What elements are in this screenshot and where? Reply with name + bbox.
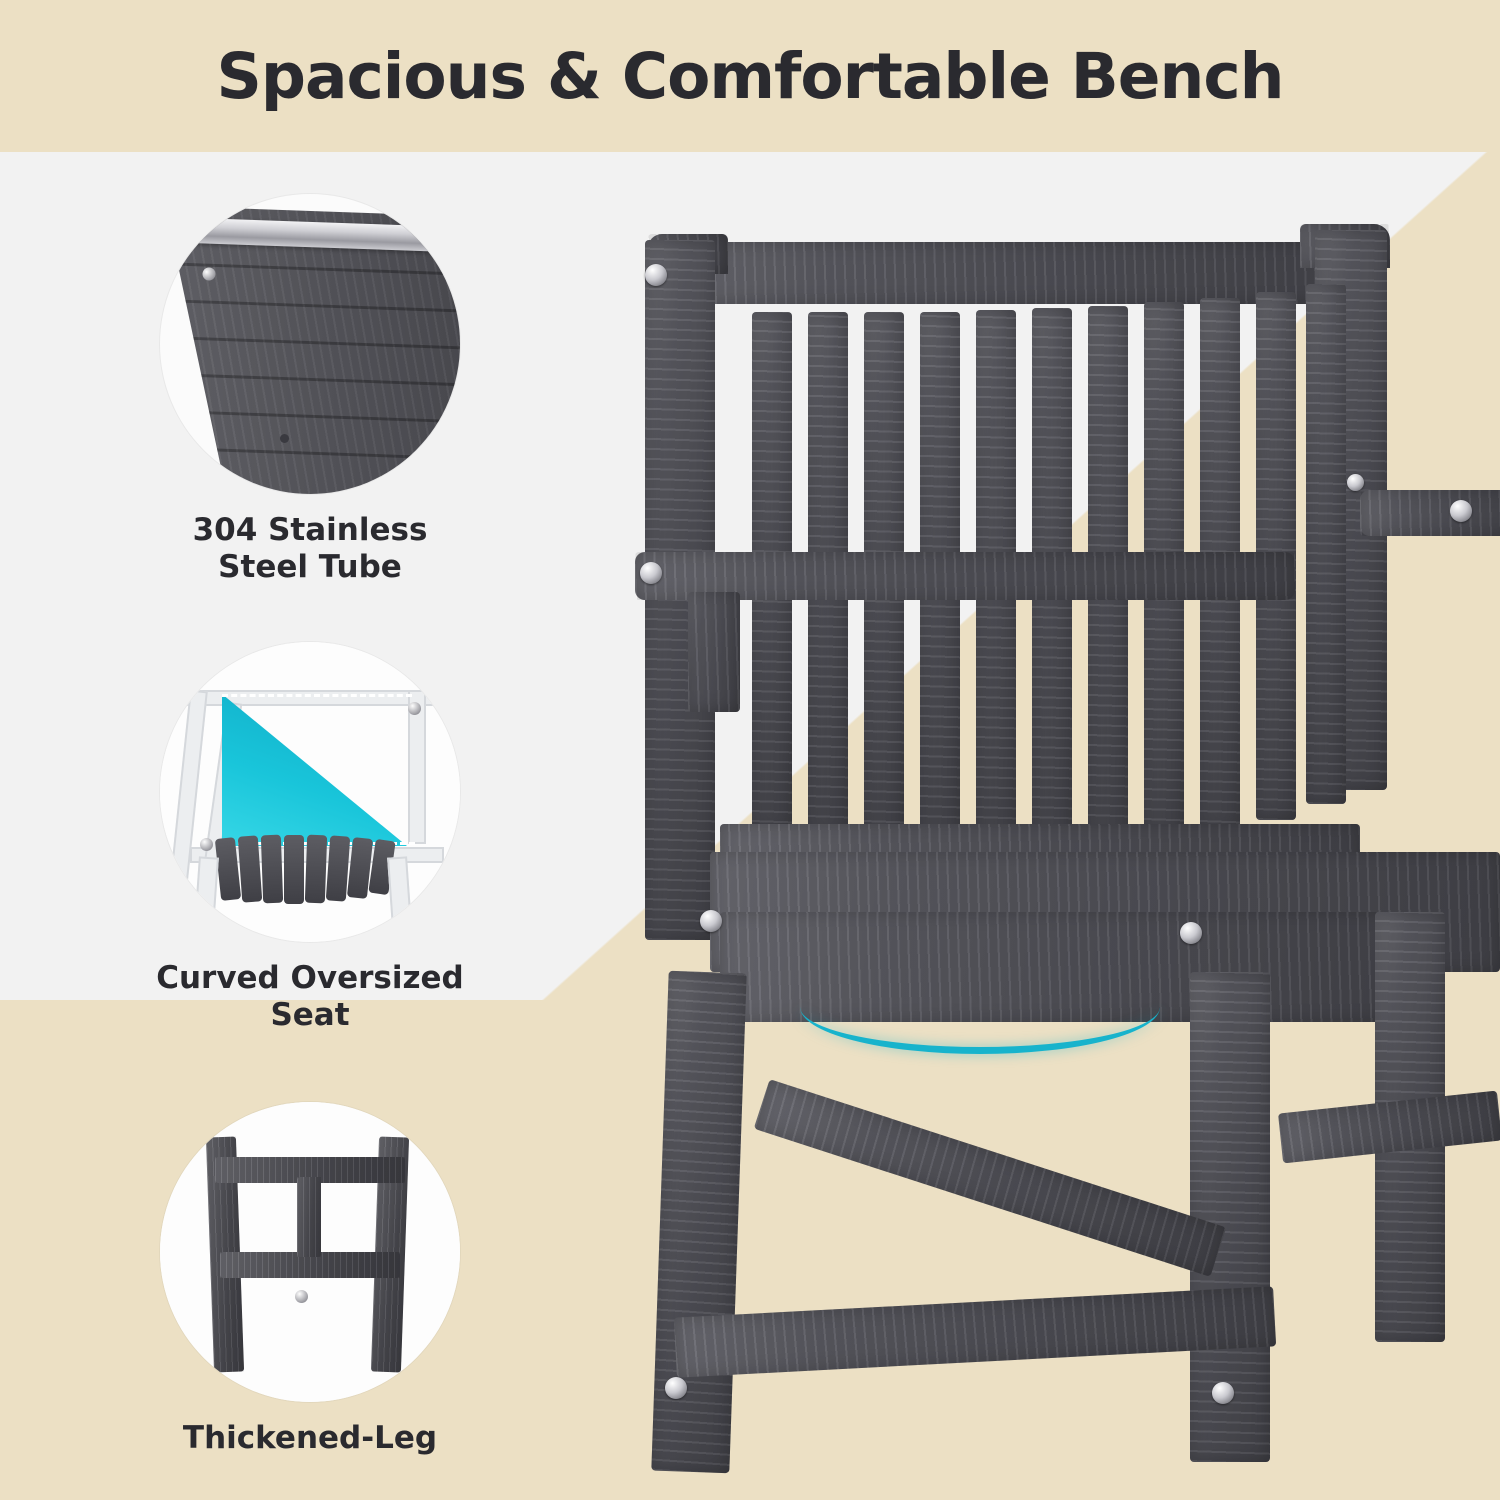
header-banner: Spacious & Comfortable Bench — [0, 0, 1500, 152]
product-scene: 304 Stainless Steel Tube — [0, 152, 1500, 1500]
feature-label-line2: Steel Tube — [100, 549, 520, 586]
feature-curved-seat-label: Curved Oversized Seat — [100, 960, 520, 1033]
feature-label-line2: Seat — [100, 997, 520, 1034]
feature-curved-seat: Curved Oversized Seat — [100, 642, 520, 1033]
screw — [1450, 500, 1472, 522]
backrest-slat — [1306, 284, 1346, 804]
bench-stretcher-lower — [674, 1286, 1276, 1377]
screw — [700, 910, 722, 932]
bench-stretcher-diagonal — [754, 1079, 1227, 1277]
bench-product-image — [600, 212, 1500, 1500]
feature-thickened-leg: Thickened-Leg — [100, 1102, 520, 1457]
bench-seat-front-apron — [720, 912, 1420, 1022]
feature-steel-tube-label: 304 Stainless Steel Tube — [100, 512, 520, 585]
page-title: Spacious & Comfortable Bench — [216, 40, 1283, 113]
feature-label-line1: Thickened-Leg — [100, 1420, 520, 1457]
bench-armrest-support — [688, 592, 740, 712]
screw — [1212, 1382, 1234, 1404]
screw — [665, 1377, 687, 1399]
feature-thickened-leg-label: Thickened-Leg — [100, 1420, 520, 1457]
feature-label-line1: 304 Stainless — [100, 512, 520, 549]
bench-leg-frame-icon — [160, 1102, 460, 1402]
screw — [640, 562, 662, 584]
bench-armrest-far — [1360, 490, 1500, 536]
bench-backrest-closeup-icon — [160, 194, 460, 494]
bench-front-leg-left — [651, 971, 746, 1473]
screw — [1347, 474, 1364, 491]
feature-label-line1: Curved Oversized — [100, 960, 520, 997]
screw — [645, 264, 667, 286]
feature-steel-tube: 304 Stainless Steel Tube — [100, 194, 520, 585]
seat-curve-highlight — [800, 1007, 1160, 1054]
bench-seat-profile-icon — [160, 642, 460, 942]
screw — [1180, 922, 1202, 944]
